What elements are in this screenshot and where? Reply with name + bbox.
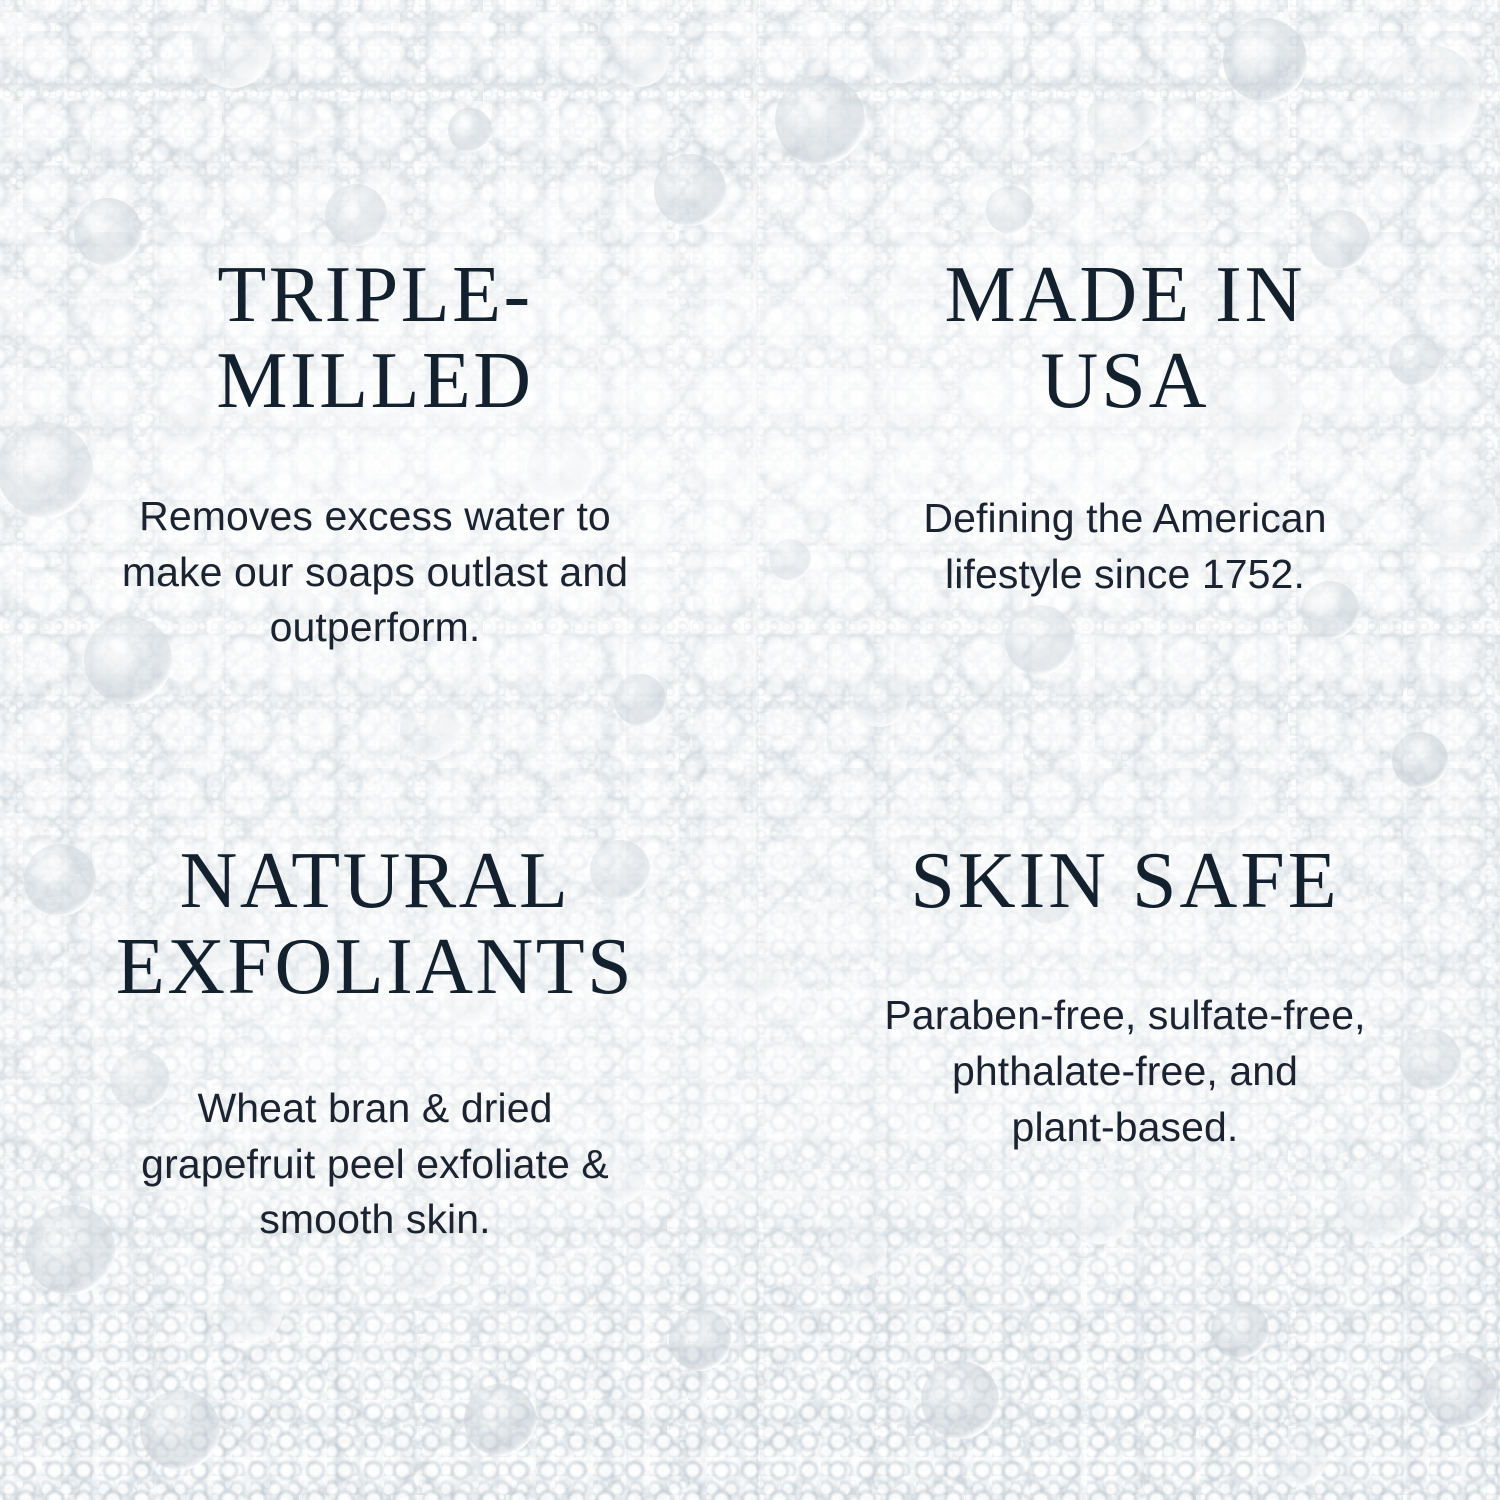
benefit-block-triple-milled: TRIPLE- MILLED Removes excess water to m… bbox=[0, 0, 750, 750]
benefit-heading-natural-exfoliants: NATURAL EXFOLIANTS bbox=[116, 838, 634, 1011]
benefit-body-made-in-usa: Defining the American lifestyle since 17… bbox=[923, 491, 1326, 603]
benefit-heading-made-in-usa: MADE IN USA bbox=[945, 252, 1306, 425]
benefit-body-triple-milled: Removes excess water to make our soaps o… bbox=[122, 489, 628, 656]
benefit-heading-skin-safe: SKIN SAFE bbox=[910, 838, 1339, 924]
benefit-grid: TRIPLE- MILLED Removes excess water to m… bbox=[0, 0, 1500, 1500]
benefit-block-skin-safe: SKIN SAFE Paraben-free, sulfate-free, ph… bbox=[750, 750, 1500, 1500]
benefit-body-natural-exfoliants: Wheat bran & dried grapefruit peel exfol… bbox=[141, 1081, 609, 1248]
benefit-heading-triple-milled: TRIPLE- MILLED bbox=[216, 252, 533, 425]
product-benefits-graphic: TRIPLE- MILLED Removes excess water to m… bbox=[0, 0, 1500, 1500]
benefit-body-skin-safe: Paraben-free, sulfate-free, phthalate-fr… bbox=[884, 988, 1365, 1155]
benefit-block-natural-exfoliants: NATURAL EXFOLIANTS Wheat bran & dried gr… bbox=[0, 750, 750, 1500]
benefit-block-made-in-usa: MADE IN USA Defining the American lifest… bbox=[750, 0, 1500, 750]
